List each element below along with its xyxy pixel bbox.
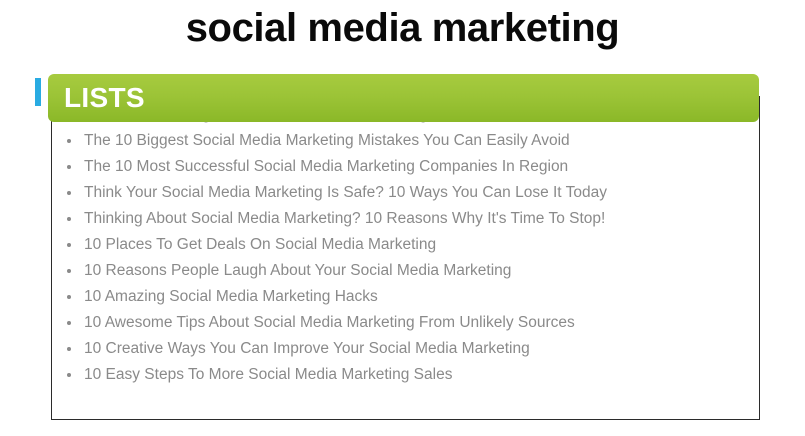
lists-scroll-area[interactable]: Marketing The 10 Best Things About Socia… bbox=[52, 96, 759, 388]
lists-section-title: LISTS bbox=[64, 83, 145, 113]
page-title: social media marketing bbox=[0, 0, 805, 56]
list-item[interactable]: 10 Awesome Tips About Social Media Marke… bbox=[52, 310, 759, 336]
list-item[interactable]: Thinking About Social Media Marketing? 1… bbox=[52, 206, 759, 232]
list-item[interactable]: 10 Reasons People Laugh About Your Socia… bbox=[52, 258, 759, 284]
list-item[interactable]: 10 Places To Get Deals On Social Media M… bbox=[52, 232, 759, 258]
list-item[interactable]: The 10 Most Successful Social Media Mark… bbox=[52, 154, 759, 180]
list-item[interactable]: 10 Amazing Social Media Marketing Hacks bbox=[52, 284, 759, 310]
lists-list: The 10 Best Things About Social Media Ma… bbox=[52, 102, 759, 388]
list-item[interactable]: Think Your Social Media Marketing Is Saf… bbox=[52, 180, 759, 206]
lists-panel: Marketing The 10 Best Things About Socia… bbox=[51, 96, 760, 420]
list-item[interactable]: 10 Creative Ways You Can Improve Your So… bbox=[52, 336, 759, 362]
list-item[interactable]: The 10 Biggest Social Media Marketing Mi… bbox=[52, 128, 759, 154]
lists-section-banner: LISTS bbox=[48, 74, 759, 122]
list-item[interactable]: 10 Easy Steps To More Social Media Marke… bbox=[52, 362, 759, 388]
section-accent-bar bbox=[35, 78, 41, 106]
